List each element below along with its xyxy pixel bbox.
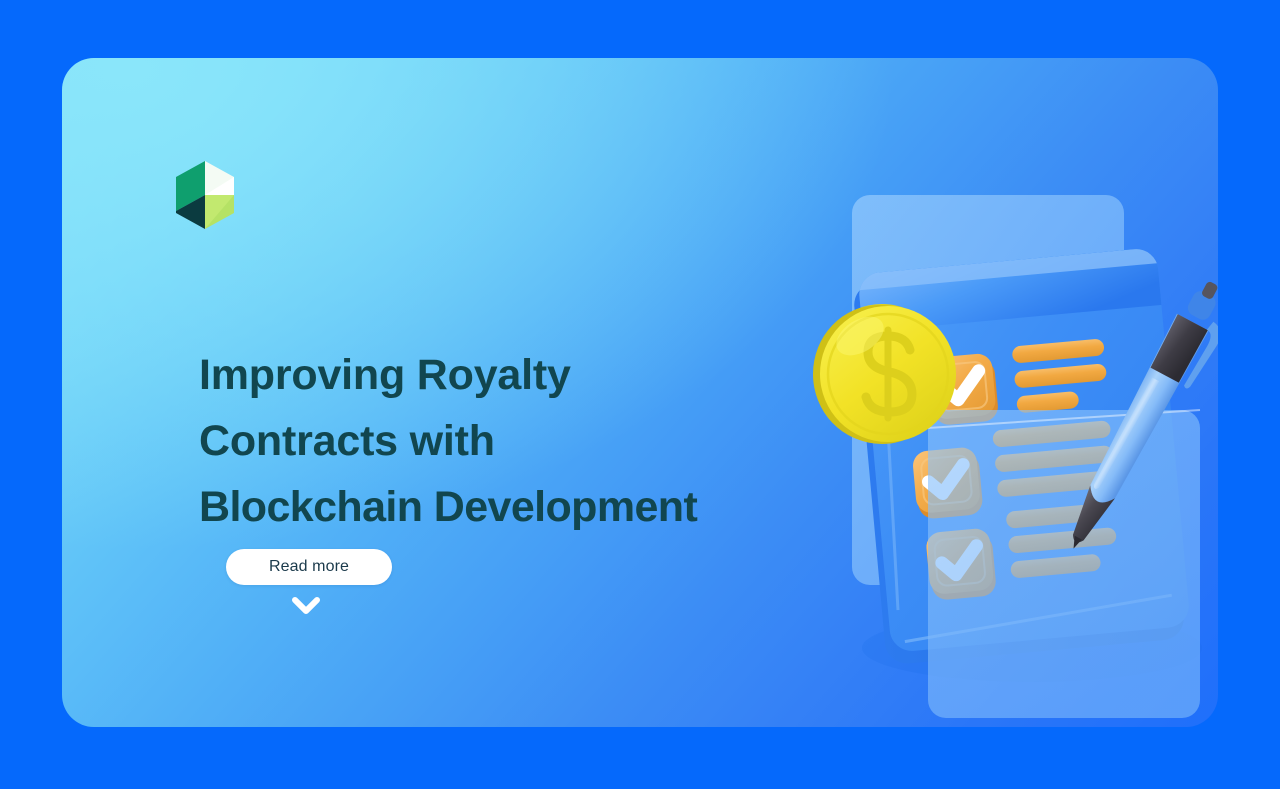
headline-line-3: Blockchain Development (199, 474, 839, 540)
front-panel-shape (928, 410, 1200, 718)
chevron-down-icon[interactable] (290, 594, 322, 618)
illustration-blockchain-contract (802, 178, 1218, 727)
headline-line-2: Contracts with (199, 408, 839, 474)
brand-logo[interactable] (170, 159, 240, 231)
hero-banner: Improving Royalty Contracts with Blockch… (0, 0, 1280, 789)
page-title: Improving Royalty Contracts with Blockch… (199, 342, 839, 540)
hero-card: Improving Royalty Contracts with Blockch… (62, 58, 1218, 727)
headline-line-1: Improving Royalty (199, 342, 839, 408)
read-more-button[interactable]: Read more (226, 549, 392, 585)
